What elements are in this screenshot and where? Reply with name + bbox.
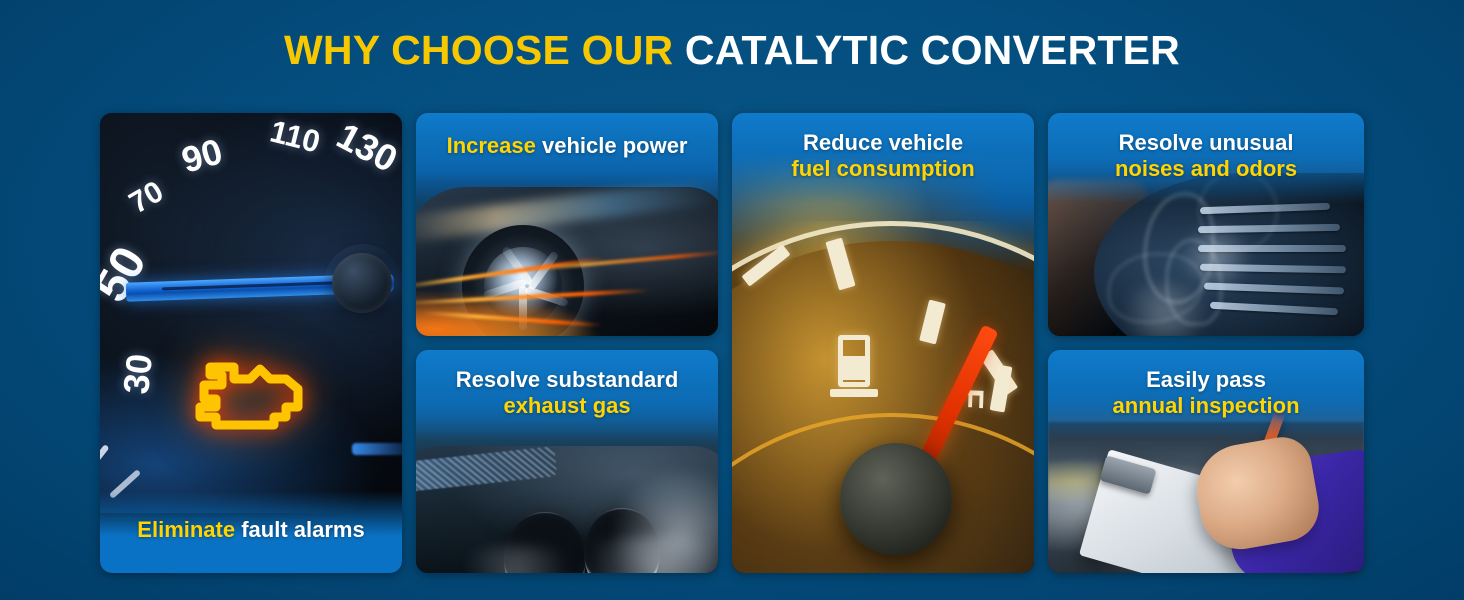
check-engine-light-icon [182,345,322,441]
card-caption: Resolve unusual noises and odors [1048,113,1364,203]
feature-card-grid: 130 110 90 70 50 30 Eliminate fault alar… [100,113,1364,573]
speedometer-right-bar [352,443,402,455]
caption-line-2: fuel consumption [744,156,1022,182]
caption-highlight: Eliminate [137,517,235,542]
fuel-pump-icon [838,335,870,387]
column-second: Increase vehicle power Resolve substanda… [416,113,718,573]
card-caption: Resolve substandard exhaust gas [416,350,718,440]
page-header: WHY CHOOSE OUR CATALYTIC CONVERTER [0,0,1464,100]
card-resolve-substandard-exhaust-gas[interactable]: Resolve substandard exhaust gas [416,350,718,573]
page-title-rest: CATALYTIC CONVERTER [685,27,1180,73]
caption-line-2: noises and odors [1060,156,1352,182]
card-eliminate-fault-alarms[interactable]: 130 110 90 70 50 30 Eliminate fault alar… [100,113,402,573]
card-increase-vehicle-power[interactable]: Increase vehicle power [416,113,718,336]
column-right: Resolve unusual noises and odors Easily … [1048,113,1364,573]
caption-line-1: Reduce vehicle [744,130,1022,156]
caption-rest: fault alarms [235,517,365,542]
column-third: F Reduce vehicle fuel consumption [732,113,1034,573]
caption-highlight: Increase [447,133,536,158]
card-caption: Reduce vehicle fuel consumption [732,113,1034,203]
page-title-highlight: WHY CHOOSE OUR [284,27,673,73]
caption-line-1: Eliminate fault alarms [112,517,390,543]
speedometer-number-30: 30 [115,352,161,396]
caption-line-2: annual inspection [1060,393,1352,419]
fuel-pump-base [830,389,878,397]
speedometer-hub [332,253,392,313]
card-easily-pass-annual-inspection[interactable]: Easily pass annual inspection [1048,350,1364,573]
card-caption: Increase vehicle power [416,113,718,181]
fuel-gauge-hub [840,443,952,555]
caption-line-1: Easily pass [1060,367,1352,393]
caption-line-1: Resolve substandard [428,367,706,393]
page-title: WHY CHOOSE OUR CATALYTIC CONVERTER [284,27,1180,74]
caption-line-1: Increase vehicle power [428,133,706,159]
card-caption: Easily pass annual inspection [1048,350,1364,440]
card-caption: Eliminate fault alarms [100,491,402,573]
caption-rest: vehicle power [536,133,688,158]
card-reduce-fuel-consumption[interactable]: F Reduce vehicle fuel consumption [732,113,1034,573]
card-resolve-unusual-noises-odors[interactable]: Resolve unusual noises and odors [1048,113,1364,336]
column-left: 130 110 90 70 50 30 Eliminate fault alar… [100,113,402,573]
caption-line-1: Resolve unusual [1060,130,1352,156]
caption-line-2: exhaust gas [428,393,706,419]
